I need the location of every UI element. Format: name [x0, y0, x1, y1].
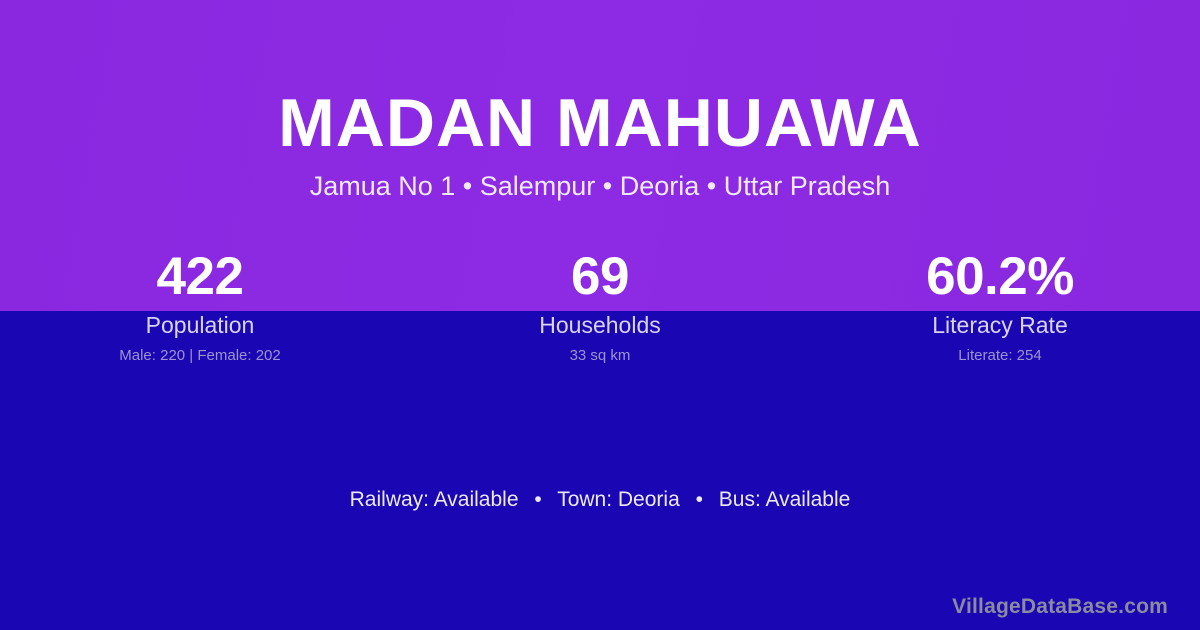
stats-row: 422 Population Male: 220 | Female: 202 6…: [0, 247, 1200, 365]
stat-card-population: 422 Population Male: 220 | Female: 202: [0, 247, 400, 365]
stat-label-population: Population: [0, 312, 400, 338]
stat-sub-population: Male: 220 | Female: 202: [0, 347, 400, 365]
stat-label-households: Households: [400, 312, 800, 338]
stat-value-households: 69: [400, 247, 800, 307]
facilities-line: Railway: Available • Town: Deoria • Bus:…: [0, 487, 1200, 513]
facility-railway: Railway: Available: [350, 488, 519, 511]
stat-card-households: 69 Households 33 sq km: [400, 247, 800, 365]
stat-label-literacy: Literacy Rate: [800, 312, 1200, 338]
stat-value-population: 422: [0, 247, 400, 307]
site-watermark: VillageDataBase.com: [952, 594, 1168, 620]
breadcrumb: Jamua No 1 • Salempur • Deoria • Uttar P…: [0, 158, 1200, 201]
stat-value-literacy: 60.2%: [800, 247, 1200, 307]
facility-town: Town: Deoria: [557, 488, 680, 511]
village-info-card: MADAN MAHUAWA Jamua No 1 • Salempur • De…: [0, 0, 1200, 630]
facility-bus: Bus: Available: [719, 488, 851, 511]
stat-card-literacy: 60.2% Literacy Rate Literate: 254: [800, 247, 1200, 365]
stat-sub-literacy: Literate: 254: [800, 347, 1200, 365]
facility-separator-icon: •: [686, 488, 713, 511]
card-header: MADAN MAHUAWA Jamua No 1 • Salempur • De…: [0, 0, 1200, 201]
page-title: MADAN MAHUAWA: [0, 0, 1200, 158]
facility-separator-icon: •: [524, 488, 551, 511]
stat-sub-households: 33 sq km: [400, 347, 800, 365]
